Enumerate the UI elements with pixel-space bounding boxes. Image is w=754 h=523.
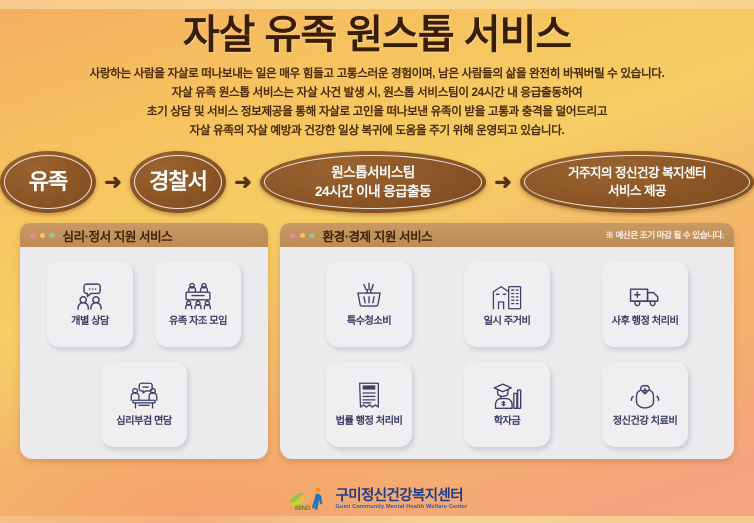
- card-row: 개별 상담: [30, 261, 258, 347]
- scholarship-icon: [490, 381, 524, 411]
- service-card-heart-hands[interactable]: 정신건강 치료비: [602, 361, 688, 447]
- service-card-group-meeting-label: 유족 자조 모임: [169, 316, 227, 328]
- flow-arrow-2-icon: ➜: [232, 171, 254, 193]
- logo-english-name: Gumi Community Mental Health Welfare Cen…: [336, 505, 468, 511]
- interview-icon: [127, 381, 161, 411]
- panel-psychological-title: 심리·정서 지원 서비스: [63, 226, 173, 245]
- flow-node-onestop-team: 원스톱서비스팀 24시간 이내 응급출동: [260, 151, 486, 213]
- service-card-scholarship-label: 학자금: [494, 416, 521, 428]
- law-document-icon: [352, 381, 386, 411]
- subtitle-line-4: 자살 유족의 자살 예방과 건강한 일상 복귀에 도움을 주기 위해 운영되고 …: [0, 122, 754, 141]
- service-card-law-document[interactable]: 법률 행정 처리비: [326, 361, 412, 447]
- service-card-scholarship[interactable]: 학자금: [464, 361, 550, 447]
- service-card-counseling[interactable]: 개별 상담: [47, 261, 133, 347]
- dot-amber-icon: [300, 233, 306, 239]
- panel-environmental: 환경·경제 지원 서비스 ※ 예산은 조기 마감 될 수 있습니다.: [280, 223, 734, 459]
- service-card-cleaning-label: 특수청소비: [347, 316, 391, 328]
- service-card-counseling-label: 개별 상담: [71, 316, 109, 328]
- flow-node-bereaved-label: 유족: [23, 166, 73, 198]
- service-card-group-meeting[interactable]: 유족 자조 모임: [155, 261, 241, 347]
- budget-notice: ※ 예산은 조기 마감 될 수 있습니다.: [605, 229, 724, 241]
- service-card-interview-label: 심리부검 면담: [116, 416, 172, 428]
- card-row: 법률 행정 처리비: [290, 361, 724, 447]
- panel-psychological: 심리·정서 지원 서비스: [20, 223, 268, 459]
- panel-psychological-body: 개별 상담: [20, 247, 268, 459]
- service-card-interview[interactable]: 심리부검 면담: [101, 361, 187, 447]
- service-card-ambulance[interactable]: 사후 행정 처리비: [602, 261, 688, 347]
- service-card-ambulance-label: 사후 행정 처리비: [612, 316, 679, 328]
- flow-node-police-label: 경찰서: [143, 166, 213, 198]
- service-panels: 심리·정서 지원 서비스: [20, 223, 734, 459]
- dot-red-icon: [30, 233, 36, 239]
- panel-environmental-header: 환경·경제 지원 서비스 ※ 예산은 조기 마감 될 수 있습니다.: [280, 223, 734, 247]
- cleaning-icon: [352, 281, 386, 311]
- subtitle-block: 사랑하는 사람을 자살로 떠나보내는 일은 매우 힘들고 고통스러운 경험이며,…: [0, 65, 754, 140]
- onestop-line-2: 24시간 이내 응급출동: [315, 184, 431, 199]
- window-dots: [290, 233, 315, 239]
- flow-arrow-1-icon: ➜: [102, 171, 124, 193]
- center-line-2: 서비스 제공: [608, 184, 666, 198]
- svg-text:MIND: MIND: [295, 506, 311, 512]
- service-card-housing[interactable]: 일시 주거비: [464, 261, 550, 347]
- card-row: 심리부검 면담: [30, 361, 258, 447]
- flow-node-mental-center: 거주지의 정신건강 복지센터 서비스 제공: [520, 151, 754, 213]
- flow-node-bereaved: 유족: [0, 151, 96, 213]
- subtitle-line-2: 자살 유족 원스톱 서비스는 자살 사건 발생 시, 원스톱 서비스팀이 24시…: [0, 84, 754, 103]
- footer: MIND 구미정신건강복지센터 Gumi Community Mental He…: [0, 477, 754, 523]
- dot-red-icon: [290, 233, 296, 239]
- group-meeting-icon: [181, 281, 215, 311]
- service-card-heart-hands-label: 정신건강 치료비: [613, 416, 677, 428]
- header: 자살 유족 원스톱 서비스 사랑하는 사람을 자살로 떠나보내는 일은 매우 힘…: [0, 0, 754, 140]
- flow-node-police: 경찰서: [130, 151, 226, 213]
- dot-amber-icon: [40, 233, 46, 239]
- subtitle-line-1: 사랑하는 사람을 자살로 떠나보내는 일은 매우 힘들고 고통스러운 경험이며,…: [0, 65, 754, 84]
- flow-node-onestop-team-label: 원스톱서비스팀 24시간 이내 응급출동: [309, 163, 437, 202]
- panel-environmental-body: 특수청소비 일시 주거비: [280, 247, 734, 459]
- process-flow: 유족 ➜ 경찰서 ➜ 원스톱서비스팀 24시간 이내 응급출동 ➜ 거주지의 정…: [0, 151, 754, 213]
- service-card-law-document-label: 법률 행정 처리비: [336, 416, 403, 428]
- dot-green-icon: [49, 233, 55, 239]
- flow-arrow-3-icon: ➜: [492, 171, 514, 193]
- counseling-icon: [73, 281, 107, 311]
- center-line-1: 거주지의 정신건강 복지센터: [568, 166, 706, 180]
- onestop-line-1: 원스톱서비스팀: [331, 165, 414, 180]
- subtitle-line-3: 초기 상담 및 서비스 정보제공을 통해 자살로 고인을 떠나보낸 유족이 받을…: [0, 103, 754, 122]
- service-card-cleaning[interactable]: 특수청소비: [326, 261, 412, 347]
- logo-korean-name: 구미정신건강복지센터: [336, 489, 468, 504]
- service-card-housing-label: 일시 주거비: [484, 316, 531, 328]
- panel-psychological-header: 심리·정서 지원 서비스: [20, 223, 268, 247]
- logo-text: 구미정신건강복지센터 Gumi Community Mental Health …: [336, 489, 468, 510]
- heart-hands-icon: [628, 381, 662, 411]
- page-title: 자살 유족 원스톱 서비스: [0, 12, 754, 59]
- ambulance-icon: [628, 281, 662, 311]
- panel-environmental-title: 환경·경제 지원 서비스: [323, 226, 433, 245]
- dot-green-icon: [309, 233, 315, 239]
- window-dots: [30, 233, 55, 239]
- infographic-poster: 자살 유족 원스톱 서비스 사랑하는 사람을 자살로 떠나보내는 일은 매우 힘…: [0, 0, 754, 523]
- gumi-mind-logo-icon: MIND: [287, 485, 329, 515]
- housing-icon: [490, 281, 524, 311]
- card-row: 특수청소비 일시 주거비: [290, 261, 724, 347]
- flow-node-mental-center-label: 거주지의 정신건강 복지센터 서비스 제공: [562, 164, 712, 200]
